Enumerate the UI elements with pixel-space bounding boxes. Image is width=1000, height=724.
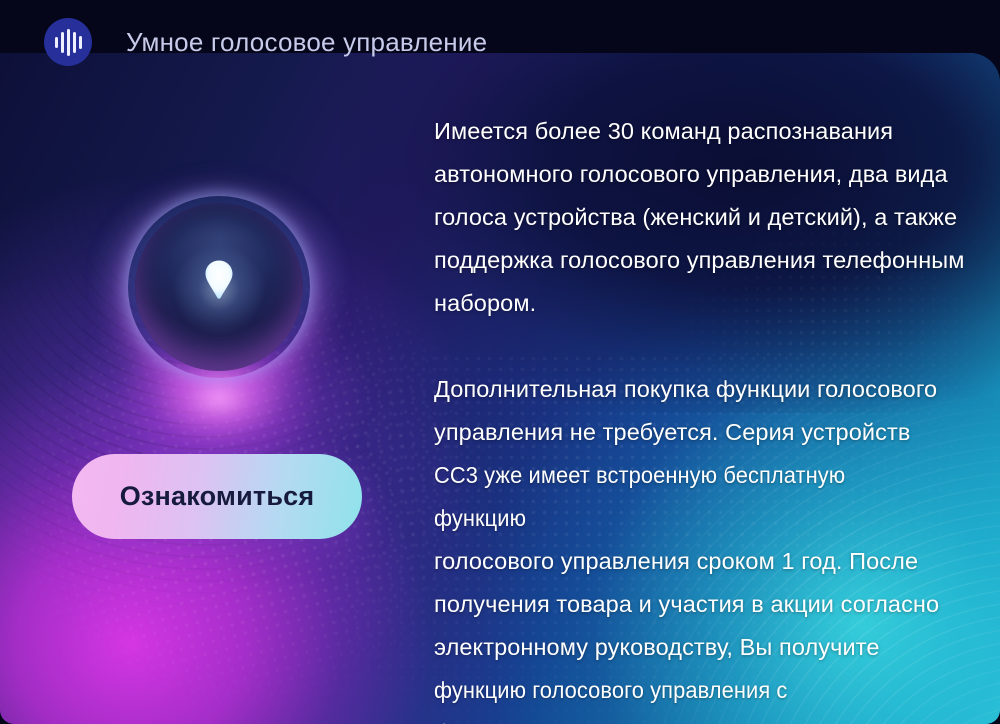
location-pin-icon (204, 259, 234, 301)
header-bar: Умное голосовое управление (0, 0, 1000, 84)
paragraph-two: Дополнительная покупка функции голосовог… (434, 368, 968, 724)
page-title: Умное голосовое управление (126, 27, 487, 58)
description-text: Имеется более 30 команд распознавания ав… (434, 110, 968, 724)
promo-screen: Умное голосовое управление (0, 0, 1000, 724)
p2-line-5: получения товара и участия в акции согла… (434, 591, 939, 617)
orb-inner (135, 203, 303, 371)
orb-ring (128, 196, 310, 378)
p2-line-4: голосового управления сроком 1 год. Посл… (434, 548, 918, 574)
p2-line-1: Дополнительная покупка функции голосовог… (434, 376, 937, 402)
p2-line-6: электронному руководству, Вы получите (434, 634, 880, 660)
voice-assistant-orb (128, 196, 310, 378)
voice-waveform-icon (44, 18, 92, 66)
paragraph-one: Имеется более 30 команд распознавания ав… (434, 110, 968, 325)
p2-line-7: функцию голосового управления с безлимит… (434, 669, 931, 724)
p2-line-3: CC3 уже имеет встроенную бесплатную функ… (434, 454, 931, 540)
learn-more-button[interactable]: Ознакомиться (72, 454, 362, 539)
p2-line-2: управления не требуется. Серия устройств (434, 419, 910, 445)
